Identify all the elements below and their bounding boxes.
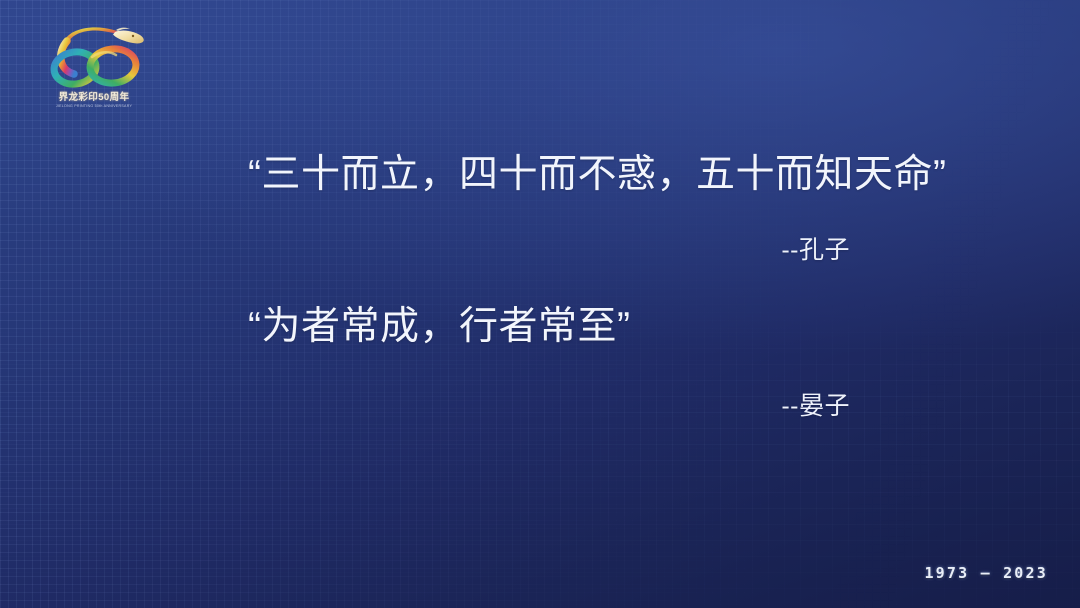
quote-attribution-2: --晏子: [248, 386, 850, 422]
quote-attribution-1: --孔子: [248, 230, 850, 266]
anniversary-year-range: 1973 — 2023: [924, 564, 1048, 582]
dragon-horn-shape: [116, 28, 130, 31]
quote-text-2: “为者常成，行者常至”: [248, 304, 850, 350]
spacer-1: [248, 198, 850, 230]
spacer-3: [248, 350, 850, 386]
dragon-eye-icon: [132, 35, 134, 37]
quote-text-1: “三十而立，四十而不惑，五十而知天命”: [248, 152, 850, 198]
spacer-2: [248, 266, 850, 304]
logo-subcaption: JIELONG PRINTING 50th ANNIVERSARY: [40, 104, 148, 108]
quote-block: “三十而立，四十而不惑，五十而知天命” --孔子 “为者常成，行者常至” --晏…: [248, 152, 850, 422]
anniversary-logo: 界龙彩印50周年 JIELONG PRINTING 50th ANNIVERSA…: [40, 22, 148, 110]
dragon-50-icon: [40, 22, 148, 92]
slide-canvas: 界龙彩印50周年 JIELONG PRINTING 50th ANNIVERSA…: [0, 0, 1080, 608]
logo-caption: 界龙彩印50周年: [40, 93, 148, 103]
dragon-head-shape: [113, 31, 144, 44]
